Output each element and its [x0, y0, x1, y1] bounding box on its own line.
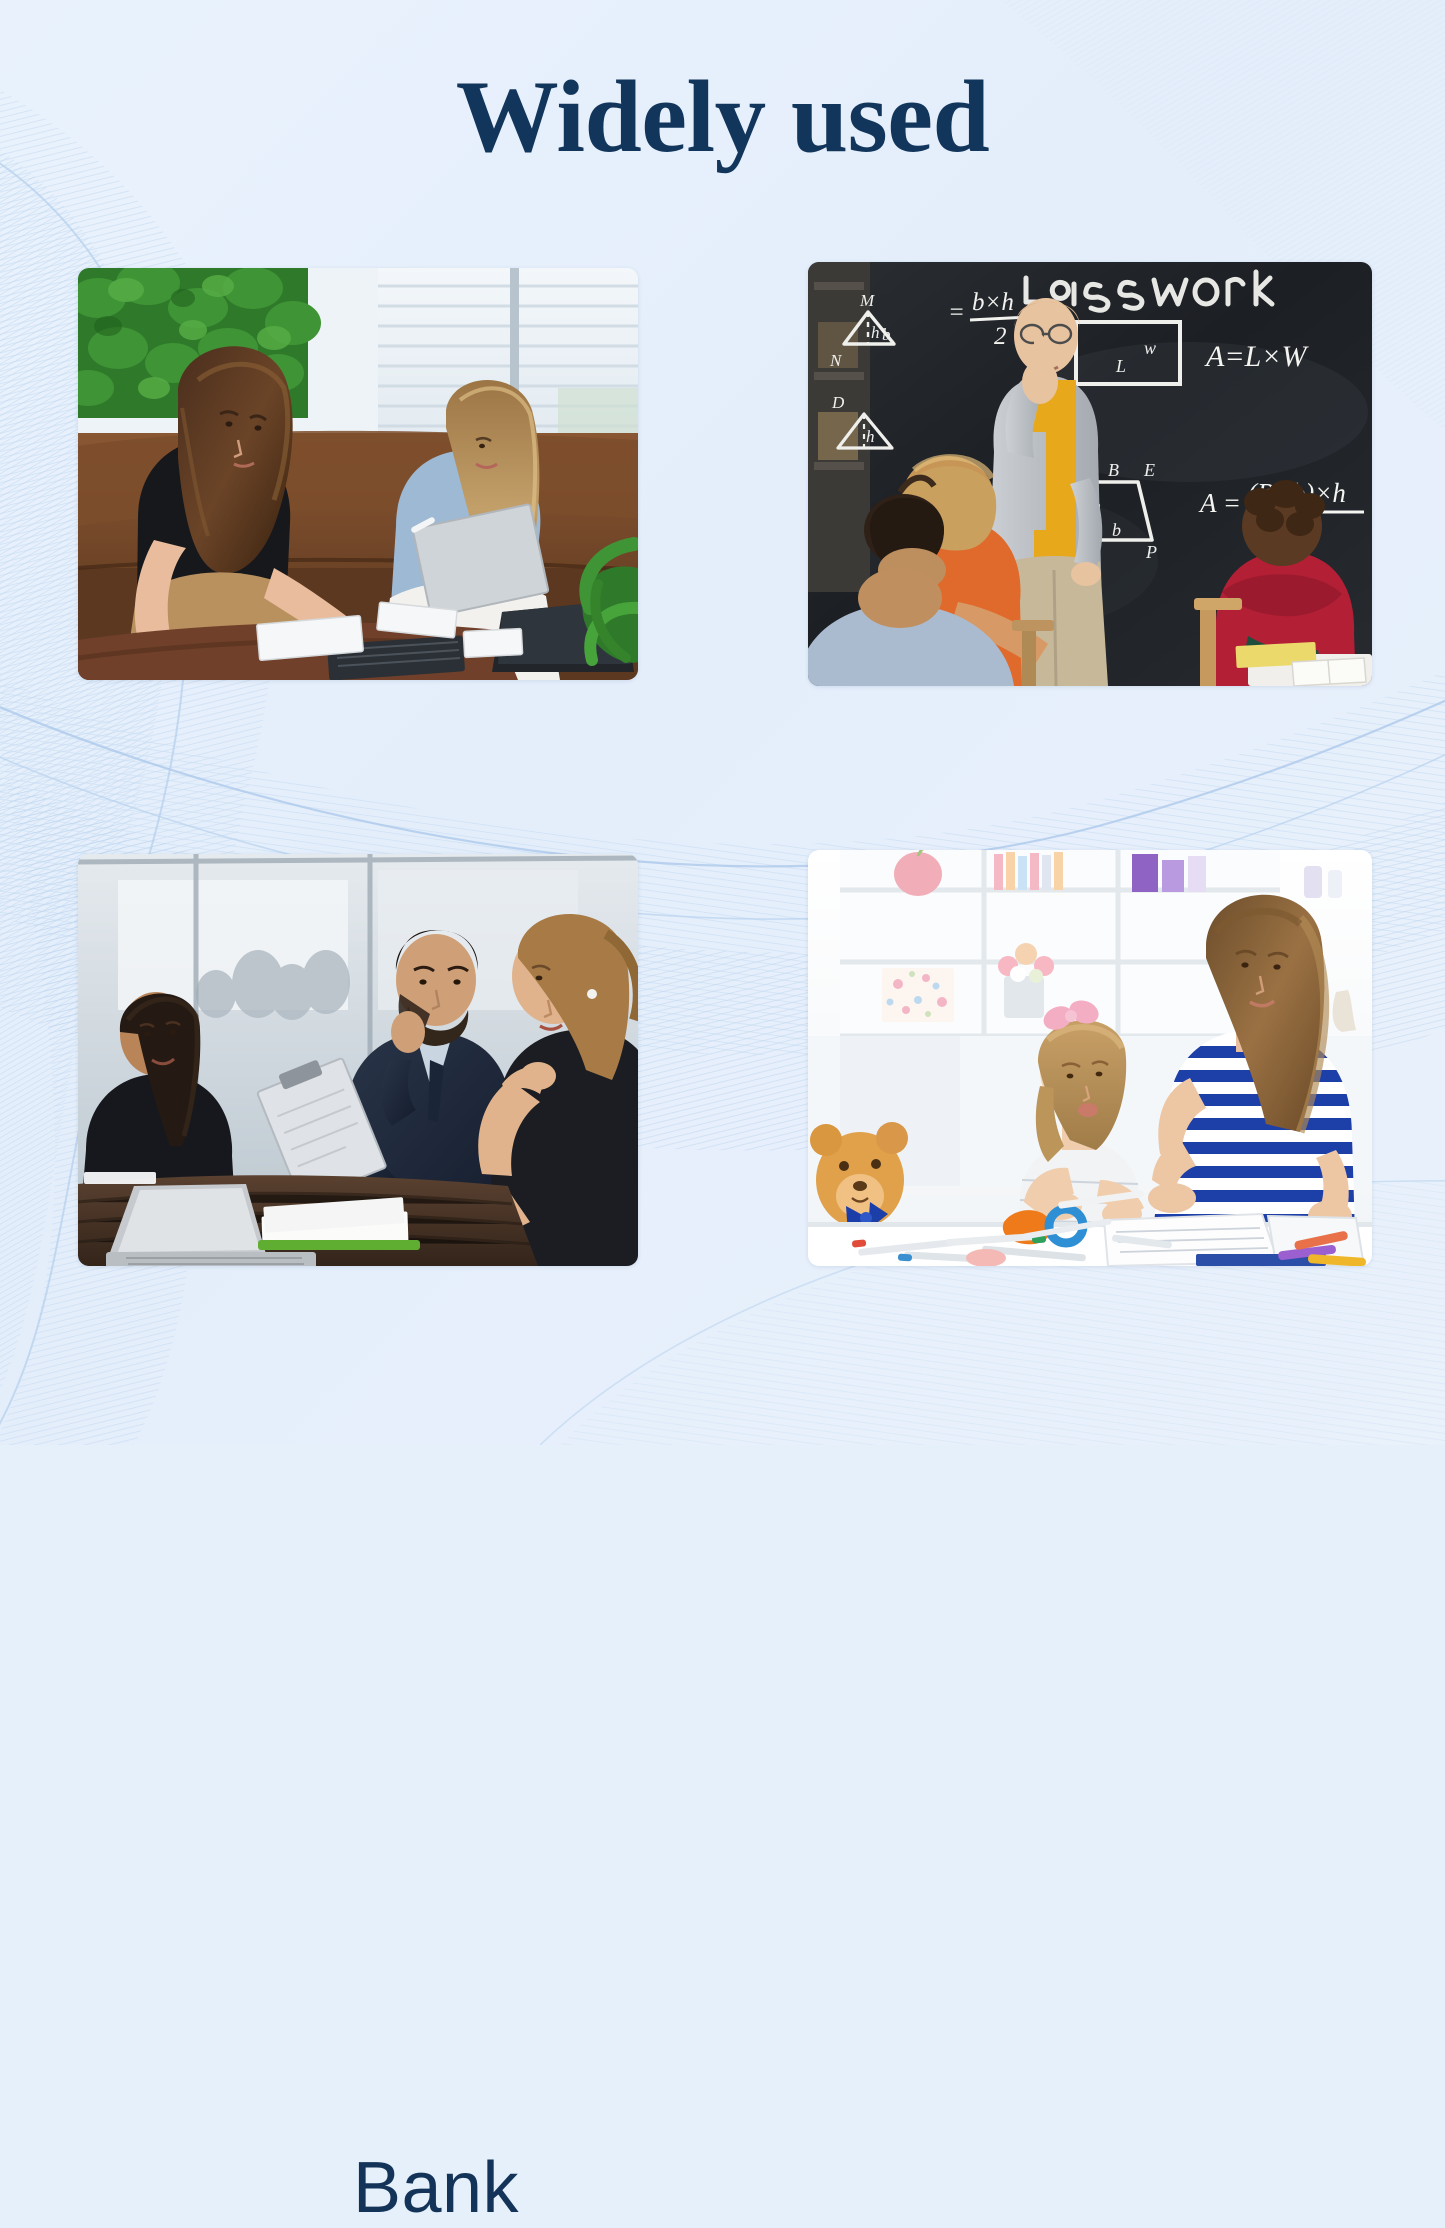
svg-text:E: E: [1143, 460, 1155, 480]
home-photo: [808, 850, 1372, 1266]
caption-bank: Bank: [156, 2152, 716, 2224]
scenario-card-office[interactable]: Office: [78, 268, 638, 680]
svg-text:M: M: [859, 291, 875, 310]
svg-text:B: B: [1108, 460, 1119, 480]
office-photo: [78, 268, 638, 680]
scenario-card-home[interactable]: Home: [808, 850, 1372, 1266]
bank-photo: [78, 854, 638, 1266]
svg-text:w: w: [1144, 338, 1156, 358]
svg-text:A=L×W: A=L×W: [1204, 340, 1309, 373]
svg-text:P: P: [1145, 542, 1157, 562]
svg-text:b×h: b×h: [972, 289, 1014, 316]
svg-text:h: h: [866, 427, 875, 446]
svg-text:N: N: [829, 351, 843, 370]
svg-text:h: h: [871, 323, 880, 342]
svg-text:2: 2: [994, 323, 1007, 350]
scenario-card-school[interactable]: MN hb Dh = b×h 2: [808, 262, 1372, 686]
svg-text:b: b: [1112, 520, 1121, 540]
page-title: Widely used: [0, 58, 1445, 176]
svg-text:=: =: [948, 299, 965, 326]
svg-text:A =: A =: [1198, 488, 1241, 518]
usage-scenario-grid: Office: [0, 0, 1445, 1445]
school-photo: MN hb Dh = b×h 2: [808, 262, 1372, 686]
scenario-card-bank[interactable]: Bank: [78, 854, 638, 1266]
svg-text:D: D: [831, 393, 845, 412]
svg-text:L: L: [1115, 356, 1126, 376]
svg-text:b: b: [882, 325, 891, 344]
